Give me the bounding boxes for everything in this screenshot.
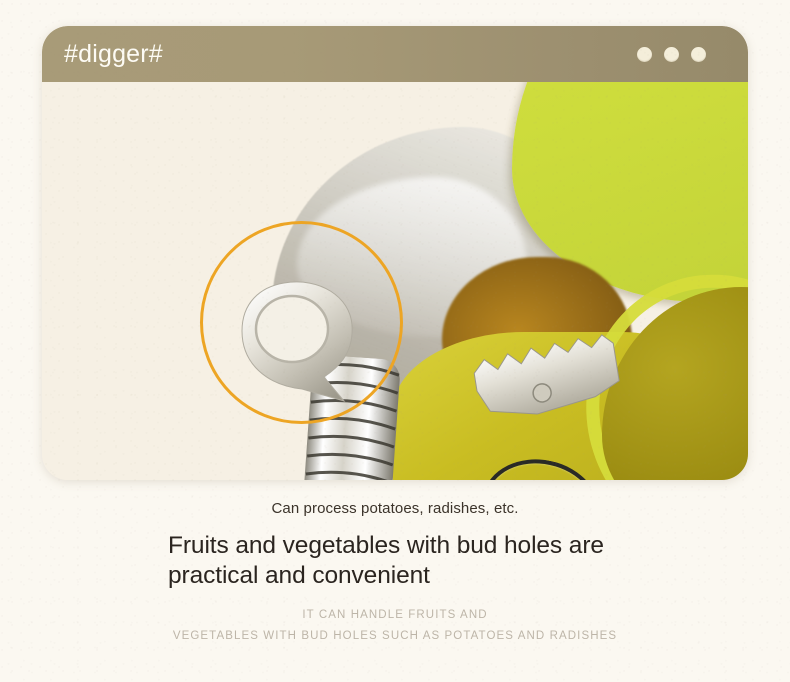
window-dot-2-icon[interactable]	[664, 47, 679, 62]
card-titlebar: #digger#	[42, 26, 748, 82]
card-title: #digger#	[64, 40, 163, 69]
caption-block: Can process potatoes, radishes, etc. Fru…	[0, 500, 790, 647]
window-dot-3-icon[interactable]	[691, 47, 706, 62]
caption-heading: Fruits and vegetables with bud holes are…	[162, 531, 628, 591]
highlight-circle-annotation	[200, 221, 403, 424]
product-photo	[42, 82, 748, 480]
caption-fine-line-2: VEGETABLES WITH BUD HOLES SUCH AS POTATO…	[0, 626, 790, 647]
caption-heading-line-2: practical and convenient	[168, 561, 628, 591]
product-card: #digger#	[42, 26, 748, 480]
caption-fine-line-1: IT CAN HANDLE FRUITS AND	[0, 605, 790, 626]
caption-subtitle: Can process potatoes, radishes, etc.	[0, 500, 790, 517]
window-dots-group	[637, 47, 706, 62]
window-dot-1-icon[interactable]	[637, 47, 652, 62]
caption-fine-print: IT CAN HANDLE FRUITS AND VEGETABLES WITH…	[0, 605, 790, 648]
caption-heading-line-1: Fruits and vegetables with bud holes are	[168, 531, 628, 561]
product-photo-inner	[42, 82, 748, 480]
